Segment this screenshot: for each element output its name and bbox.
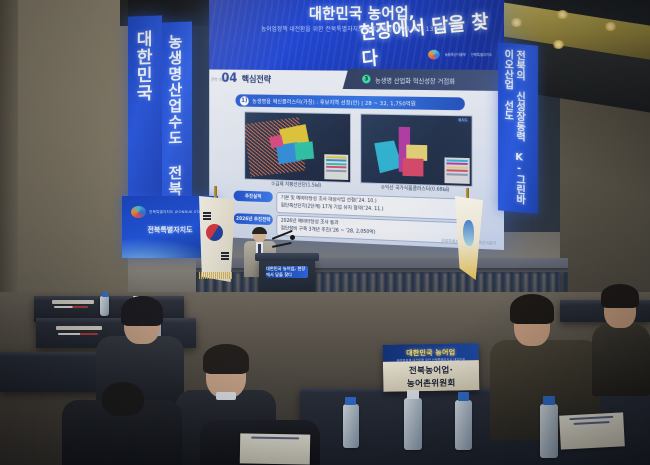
slide-tab-text: 농생명 산업화 혁신성장 거점화 — [375, 74, 455, 85]
microphone — [272, 238, 298, 258]
speaker-hair — [252, 227, 267, 234]
slide-title-main: 대한민국 농어업, — [309, 4, 415, 22]
slide-topic-pill: 1) 농생명용 혁신클러스터(가칭) : 후보지역 선정(안) | 28 ~ 3… — [235, 94, 464, 110]
nameplate-line-1: 전북농어업· — [409, 363, 453, 376]
banner-korea: 대한민국 — [128, 15, 162, 212]
attendee-hair — [203, 344, 249, 374]
trigram — [221, 252, 229, 254]
conference-photo: 농생명산업수도 전북 대한민국 대한민국 농어업, 현장에서 답을 찾다 농어업… — [0, 0, 650, 465]
slide-subtitle: 농어업정책 대전환을 위한 전북특별자치도 대토론회 | 2026. 01. 1… — [234, 24, 477, 33]
nameplate-line-2: 농어촌위원회 — [407, 376, 456, 389]
slide-topic-text: 농생명용 혁신클러스터(가칭) : 후보지역 선정(안) | 28 ~ 32, … — [252, 97, 416, 107]
province-flag-emblem-icon — [463, 220, 474, 246]
banner-agri-capital: 농생명산업수도 전북 — [162, 21, 192, 208]
left-wall — [0, 0, 128, 300]
slide-topic-number: 1) — [240, 96, 249, 106]
table-card — [559, 412, 625, 449]
ceiling-spotlight — [510, 18, 523, 27]
table-card-line — [251, 437, 299, 440]
slide-logos: 농림축산식품부 전북특별자치도 — [428, 50, 492, 60]
map-parcel — [402, 158, 423, 176]
table-card-line — [574, 421, 610, 425]
banner-green-bio-text: 전북의 신성장동력 K-그린바이오산업 선도 — [501, 49, 525, 213]
table-nameplate: 대한민국 농어업 농어업정책 대전환을 위한 전북특별자치도 대토론회 전북농어… — [383, 343, 480, 392]
map-legend — [324, 154, 348, 180]
water-bottle — [540, 404, 558, 458]
left-wall-edge — [0, 0, 18, 300]
document — [52, 300, 94, 304]
attendee-head — [102, 382, 144, 416]
slide-map-right: 위치도 — [360, 113, 472, 187]
slide-bullet-tag: 추진실적 — [234, 190, 273, 202]
slide-section-head: 04 핵심전략 — [221, 71, 271, 86]
attendee-collar — [216, 392, 236, 400]
banner-green-bio: 전북의 신성장동력 K-그린바이오산업 선도 — [498, 42, 538, 213]
pen — [58, 333, 98, 335]
map-location-tag: 위치도 — [456, 118, 470, 123]
jeonbuk-emblem-icon — [131, 206, 146, 218]
attendee-hair — [121, 296, 163, 326]
korean-national-flag — [199, 196, 235, 282]
slide-section-tab: 3 농생명 산업화 혁신성장 거점화 — [343, 69, 504, 91]
slide-section-label: 핵심전략 — [242, 73, 271, 86]
map-parcel — [294, 141, 314, 160]
slide-tab-badge: 3 — [362, 75, 370, 84]
table-card — [240, 433, 311, 464]
nameplate-body: 전북농어업· 농어촌위원회 — [383, 360, 480, 392]
table-card-line — [569, 416, 613, 420]
map-legend — [444, 157, 469, 183]
attendee-hair — [601, 284, 639, 308]
ceiling-spotlight — [604, 22, 617, 31]
podium-plate-text: 대한민국 농어업, 현장에서 답을 찾다 — [266, 266, 308, 278]
ceiling-spotlight — [556, 10, 569, 19]
trigram — [203, 215, 211, 217]
panel-logo-caption: 전북특별자치도 JEONBUK STATE — [149, 210, 206, 214]
slide-logo-caption-1: 농림축산식품부 — [445, 53, 466, 57]
taeguk-symbol — [203, 221, 226, 244]
slide-title-handwriting: 현장에서 답을 찾다 — [358, 6, 504, 72]
water-bottle — [343, 404, 359, 448]
trigram — [203, 218, 211, 220]
attendee-hair — [510, 294, 554, 324]
banner-korea-text: 대한민국 — [132, 30, 151, 103]
trigram — [221, 255, 229, 257]
ceiling-spotlight — [552, 40, 565, 49]
water-bottle — [404, 398, 422, 450]
government-emblem-icon — [428, 50, 440, 60]
slide-map-left — [244, 111, 351, 183]
water-bottle — [455, 400, 472, 450]
slide-section-number: 04 — [221, 71, 237, 85]
attendee — [592, 284, 650, 394]
trigram — [203, 212, 211, 214]
banner-agri-capital-text: 농생명산업수도 전북 — [166, 34, 183, 198]
pen — [54, 306, 88, 308]
trigram — [221, 258, 229, 260]
attendee-body — [592, 324, 650, 396]
attendee — [62, 382, 182, 465]
flag-fringe — [199, 272, 233, 279]
slide-logo-caption-2: 전북특별자치도 — [471, 53, 492, 58]
podium-plate: 대한민국 농어업, 현장에서 답을 찾다 — [266, 266, 308, 278]
slide-title: 대한민국 농어업, — [239, 1, 490, 23]
slide-bullet-tag: 2026년 추진전략 — [234, 213, 273, 225]
